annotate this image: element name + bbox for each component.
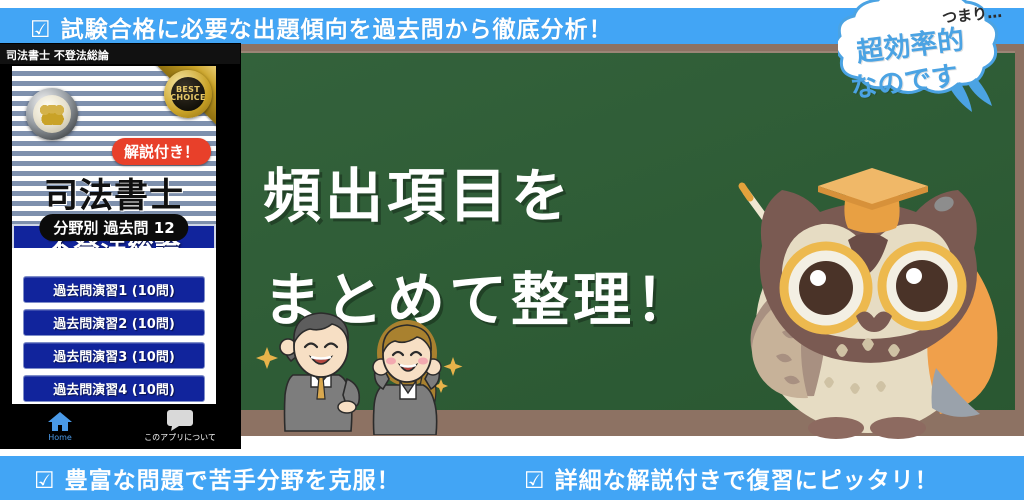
bottom-banner-right-text: ☑ 詳細な解説付きで復習にピッタリ！ <box>524 461 939 495</box>
best-choice-badge: BEST CHOICE <box>164 70 212 118</box>
student-male <box>280 313 359 431</box>
promo-banner-screenshot: ☑ 試験合格に必要な出題傾向を過去問から徹底分析！ 頻出項目を まとめて整理！ <box>0 0 1024 500</box>
bottom-feature-banner: ☑ 豊富な問題で苦手分野を克服！ ☑ 詳細な解説付きで復習にピッタリ！ <box>0 456 1024 500</box>
app-hero-card: BEST CHOICE 解説付き！ 司法書士 分野別 過去問 12 不登法総論 <box>12 66 216 248</box>
nav-item-home[interactable]: Home <box>0 410 120 442</box>
home-icon <box>47 410 73 432</box>
quiz-button-1-label: 過去問演習1 (10問) <box>53 280 175 299</box>
best-choice-line-2: CHOICE <box>170 94 205 102</box>
nav-item-about-label: このアプリについて <box>144 432 216 443</box>
blackboard-line-1: 頻出項目を <box>263 149 573 233</box>
quiz-button-list: 過去問演習1 (10問) 過去問演習2 (10問) 過去問演習3 (10問) 過… <box>12 272 216 404</box>
speech-bubble: つまり… 超効率的 なのです <box>838 0 1024 112</box>
app-title-bar: 司法書士 不登法総論 <box>0 44 240 64</box>
bottom-banner-left-text: ☑ 豊富な問題で苦手分野を克服！ <box>34 461 401 495</box>
app-screen: BEST CHOICE 解説付き！ 司法書士 分野別 過去問 12 不登法総論 … <box>12 66 216 404</box>
quiz-button-1[interactable]: 過去問演習1 (10問) <box>23 276 205 303</box>
student-female <box>373 320 441 435</box>
quiz-button-3-label: 過去問演習3 (10問) <box>53 346 175 365</box>
card-category-pill: 分野別 過去問 12 <box>39 214 188 241</box>
quiz-button-2[interactable]: 過去問演習2 (10問) <box>23 309 205 336</box>
app-title: 司法書士 不登法総論 <box>6 47 109 63</box>
quiz-button-4[interactable]: 過去問演習4 (10問) <box>23 375 205 402</box>
card-main-title: 司法書士 <box>12 168 216 217</box>
crest-medal-icon <box>26 88 78 140</box>
quiz-button-4-label: 過去問演習4 (10問) <box>53 379 175 398</box>
nav-item-about[interactable]: このアプリについて <box>120 409 240 443</box>
top-banner-text: ☑ 試験合格に必要な出題傾向を過去問から徹底分析！ <box>30 10 613 44</box>
app-screenshot: 司法書士 不登法総論 BEST CHOICE 解説付き！ 司法書士 分野別 過去… <box>0 44 240 448</box>
explanation-badge: 解説付き！ <box>112 138 211 165</box>
speech-bubble-icon <box>166 409 194 431</box>
quiz-button-2-label: 過去問演習2 (10問) <box>53 313 175 332</box>
app-bottom-nav: Home このアプリについて <box>0 404 240 448</box>
cheering-students-illustration <box>255 305 475 435</box>
nav-item-home-label: Home <box>48 433 72 442</box>
quiz-button-3[interactable]: 過去問演習3 (10問) <box>23 342 205 369</box>
owl-professor-illustration <box>650 100 1024 440</box>
